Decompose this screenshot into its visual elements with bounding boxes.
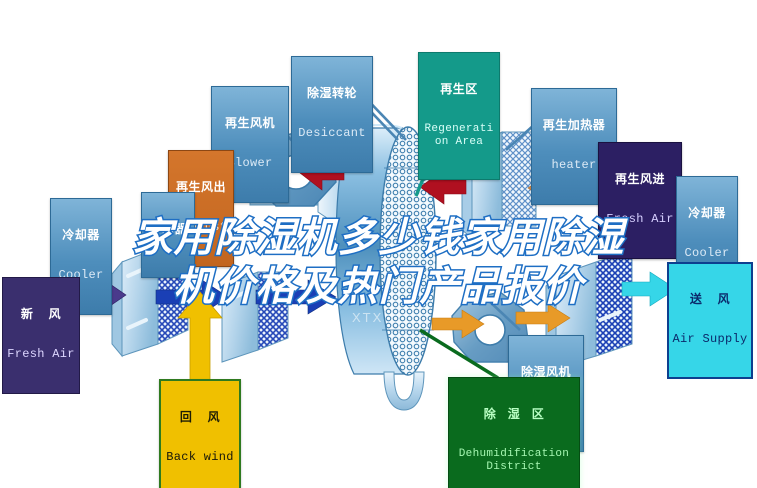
label-regen-blower-cn: 再生风机 (216, 117, 284, 130)
label-regen-area[interactable]: 再生区 Regenerati on Area (418, 52, 500, 180)
promo-watermark: 家用除湿机多少钱家用除湿 机价格及热门产品报价 (0, 214, 757, 312)
watermark-line-2: 机价格及热门产品报价 (0, 263, 757, 312)
svg-text:XTX: XTX (352, 310, 383, 325)
label-regen-fresh-air-cn: 再生风进 (603, 173, 677, 186)
label-desiccant-rotor[interactable]: 除湿转轮 Desiccant (291, 56, 373, 173)
watermark-line-1: 家用除湿机多少钱家用除湿 (0, 214, 757, 263)
label-regen-heater-cn: 再生加热器 (536, 119, 612, 132)
label-back-wind[interactable]: 回 风 Back wind (159, 379, 241, 488)
label-dehum-district[interactable]: 除 湿 区 Dehumidification District (448, 377, 580, 488)
label-air-supply-en: Air Supply (672, 333, 748, 346)
label-dehum-district-en: Dehumidification District (453, 448, 575, 473)
label-back-wind-en: Back wind (165, 451, 235, 464)
label-desiccant-rotor-en: Desiccant (296, 127, 368, 140)
label-desiccant-rotor-cn: 除湿转轮 (296, 87, 368, 100)
label-dehum-district-cn: 除 湿 区 (453, 408, 575, 421)
label-back-wind-cn: 回 风 (165, 411, 235, 424)
label-regen-area-en: Regenerati on Area (423, 123, 495, 148)
label-fresh-air-en: Fresh Air (7, 348, 75, 361)
diagram-canvas: XTX (0, 0, 757, 488)
label-regen-area-cn: 再生区 (423, 83, 495, 96)
